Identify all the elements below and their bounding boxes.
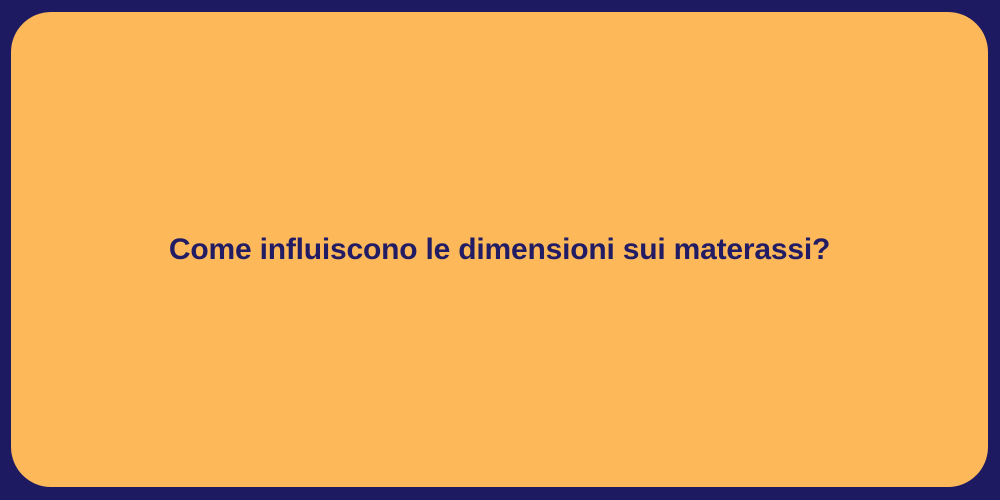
card-panel: Come influiscono le dimensioni sui mater… — [11, 12, 988, 487]
page-title: Come influiscono le dimensioni sui mater… — [145, 231, 854, 269]
card-frame: Come influiscono le dimensioni sui mater… — [0, 0, 1000, 500]
